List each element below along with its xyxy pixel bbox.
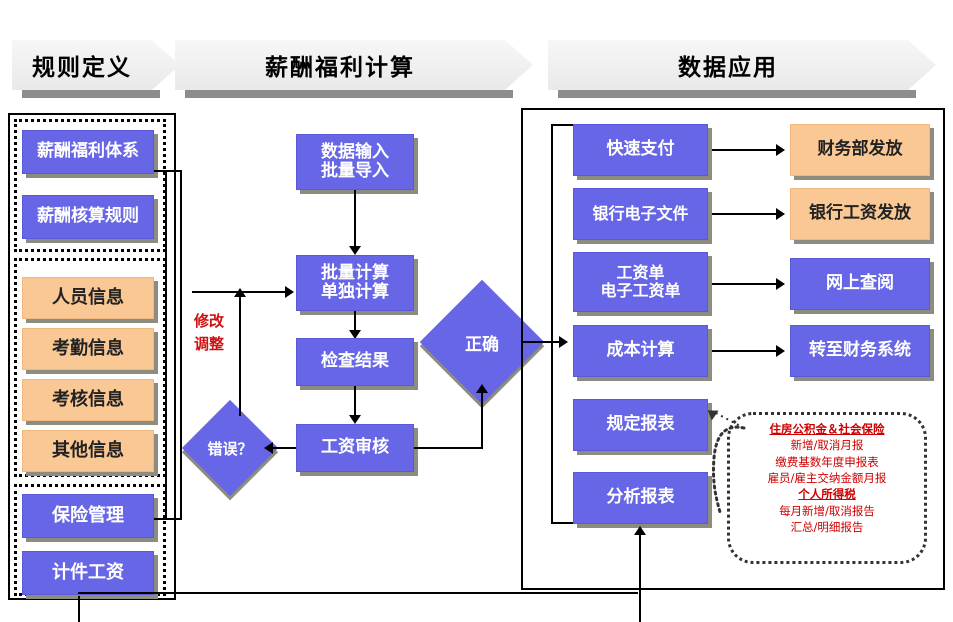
box-bank-e-file-label: 银行电子文件 — [592, 205, 688, 223]
arrow-check-to-audit — [349, 415, 361, 424]
connector-fastpay-to-finance — [712, 149, 778, 151]
box-comp-benefit-system[interactable]: 薪酬福利体系 — [22, 130, 154, 174]
box-data-input-line1: 数据输入 — [321, 143, 389, 162]
box-cost-calc[interactable]: 成本计算 — [573, 325, 708, 377]
banner-rule-definition-body: 规则定义 — [12, 40, 152, 90]
connector-left-top-stub — [154, 170, 182, 172]
note-modify-line2: 调整 — [186, 333, 232, 356]
banner-data-application-chevron — [908, 40, 936, 90]
box-analysis-report-label: 分析报表 — [607, 488, 675, 507]
box-comp-benefit-system-label: 薪酬福利体系 — [37, 142, 139, 161]
arrow-fastpay-to-finance — [776, 144, 785, 156]
connector-audit-right — [414, 447, 482, 449]
banner-payroll-calc-body: 薪酬福利计算 — [175, 40, 505, 90]
box-insurance-management-label: 保险管理 — [52, 506, 124, 526]
box-analysis-report[interactable]: 分析报表 — [573, 472, 708, 524]
box-bank-e-file[interactable]: 银行电子文件 — [573, 188, 708, 240]
diagram-canvas: 规则定义 薪酬福利计算 数据应用 薪酬福利体系 薪酬核算规则 人员信息 考 — [0, 0, 953, 622]
note-modify-line1: 修改 — [186, 310, 232, 333]
box-fast-payment-label: 快速支付 — [607, 140, 675, 159]
box-bank-salary-payout[interactable]: 银行工资发放 — [790, 188, 930, 240]
callout-line-0: 住房公积金＆社会保险 — [738, 421, 916, 437]
arrow-datainput-to-batchcalc — [349, 246, 361, 255]
box-check-result-label: 检查结果 — [321, 352, 389, 371]
callout-line-6: 汇总/明细报告 — [738, 519, 916, 535]
connector-left-feed-vertical — [192, 291, 194, 293]
box-cost-calc-label: 成本计算 — [607, 341, 675, 360]
arrow-costcalc-to-finsys — [776, 345, 785, 357]
connector-datainput-to-batchcalc — [354, 190, 356, 248]
diamond-correct-decision[interactable]: 正确 — [438, 298, 526, 386]
box-data-input[interactable]: 数据输入 批量导入 — [296, 134, 414, 190]
box-other-info-label: 其他信息 — [52, 441, 124, 461]
banner-rule-definition-label: 规则定义 — [32, 48, 132, 82]
box-insurance-management[interactable]: 保险管理 — [22, 494, 154, 538]
box-transfer-to-finance-system-label: 转至财务系统 — [809, 341, 911, 360]
banner-payroll-calc-chevron — [505, 40, 533, 90]
banner-rule-definition: 规则定义 — [12, 40, 172, 98]
box-batch-calc[interactable]: 批量计算 单独计算 — [296, 255, 414, 311]
connector-error-up — [239, 296, 241, 416]
box-batch-calc-line2: 单独计算 — [321, 283, 389, 302]
box-appraisal-info[interactable]: 考核信息 — [22, 379, 154, 421]
arrow-left-to-batchcalc — [285, 286, 294, 298]
box-wage-audit[interactable]: 工资审核 — [296, 424, 414, 472]
box-payslip-line2: 电子工资单 — [600, 282, 680, 300]
box-statutory-report[interactable]: 规定报表 — [573, 399, 708, 451]
banner-data-application: 数据应用 — [548, 40, 948, 98]
box-attendance-info-label: 考勤信息 — [52, 339, 124, 359]
banner-payroll-calc: 薪酬福利计算 — [175, 40, 545, 98]
connector-audit-to-error — [272, 447, 296, 449]
arrow-bankfile-to-banksalary — [776, 208, 785, 220]
banner-rule-definition-shadow — [22, 90, 160, 98]
box-check-result[interactable]: 检查结果 — [296, 338, 414, 386]
connector-bankfile-to-banksalary — [712, 213, 778, 215]
diamond-error-label: 错误？ — [207, 438, 252, 459]
connector-piecerate-down — [78, 596, 80, 622]
connector-right-bracket-bottom — [551, 522, 573, 524]
arrow-into-correct-diamond — [476, 384, 488, 393]
callout-tail — [700, 406, 746, 514]
box-piece-rate-wage-label: 计件工资 — [52, 563, 124, 583]
connector-check-to-audit — [354, 386, 356, 418]
connector-costcalc-to-finsys — [712, 350, 778, 352]
box-data-input-line2: 批量导入 — [321, 162, 389, 181]
box-comp-accounting-rule[interactable]: 薪酬核算规则 — [22, 195, 154, 239]
callout-line-2: 缴费基数年度申报表 — [738, 454, 916, 470]
box-transfer-to-finance-system[interactable]: 转至财务系统 — [790, 325, 930, 377]
arrow-error-up-to-feed — [234, 288, 246, 297]
box-payslip[interactable]: 工资单 电子工资单 — [573, 252, 708, 312]
connector-bottom-rail — [78, 592, 638, 594]
box-other-info[interactable]: 其他信息 — [22, 430, 154, 472]
banner-data-application-label: 数据应用 — [678, 48, 778, 82]
connector-right-entry — [521, 341, 553, 343]
connector-payslip-to-online — [712, 283, 778, 285]
diamond-correct-label: 正确 — [465, 330, 499, 355]
box-comp-accounting-rule-label: 薪酬核算规则 — [37, 207, 139, 226]
connector-audit-right-up — [481, 393, 483, 449]
connector-left-bracket-vertical — [180, 170, 182, 520]
box-bank-salary-payout-label: 银行工资发放 — [809, 204, 911, 223]
connector-left-bottom-stub — [154, 518, 182, 520]
box-online-inquiry-label: 网上查阅 — [826, 274, 894, 293]
box-personnel-info[interactable]: 人员信息 — [22, 277, 154, 319]
connector-left-bracket-inner — [165, 170, 167, 520]
banner-payroll-calc-label: 薪酬福利计算 — [265, 48, 415, 82]
diamond-error-decision[interactable]: 错误？ — [196, 414, 264, 482]
box-appraisal-info-label: 考核信息 — [52, 390, 124, 410]
callout-tail-svg — [700, 406, 746, 514]
banner-payroll-calc-shadow — [185, 90, 513, 98]
banner-data-application-body: 数据应用 — [548, 40, 908, 90]
arrow-audit-to-error — [264, 442, 273, 454]
callout-line-3: 雇员/雇主交纳金额月报 — [738, 470, 916, 486]
box-fast-payment[interactable]: 快速支付 — [573, 124, 708, 176]
box-finance-dept-payout-label: 财务部发放 — [818, 140, 903, 159]
box-finance-dept-payout[interactable]: 财务部发放 — [790, 124, 930, 176]
callout-report-details: 住房公积金＆社会保险 新增/取消月报 缴费基数年度申报表 雇员/雇主交纳金额月报… — [727, 412, 927, 564]
box-attendance-info[interactable]: 考勤信息 — [22, 328, 154, 370]
connector-bottom-to-analysis — [639, 534, 641, 622]
box-online-inquiry[interactable]: 网上查阅 — [790, 258, 930, 310]
connector-right-distribution-bracket — [551, 124, 553, 524]
box-statutory-report-label: 规定报表 — [607, 415, 675, 434]
callout-line-1: 新增/取消月报 — [738, 437, 916, 453]
note-modify-adjust: 修改 调整 — [186, 310, 232, 357]
box-payslip-line1: 工资单 — [616, 264, 664, 282]
box-personnel-info-label: 人员信息 — [52, 288, 124, 308]
connector-right-bracket-top — [551, 124, 573, 126]
box-wage-audit-label: 工资审核 — [321, 438, 389, 457]
box-piece-rate-wage[interactable]: 计件工资 — [22, 551, 154, 595]
callout-line-4: 个人所得税 — [738, 486, 916, 502]
arrow-bottom-to-analysis — [634, 526, 646, 535]
banner-data-application-shadow — [558, 90, 916, 98]
arrow-payslip-to-online — [776, 278, 785, 290]
callout-line-5: 每月新增/取消报告 — [738, 503, 916, 519]
box-batch-calc-line1: 批量计算 — [321, 264, 389, 283]
